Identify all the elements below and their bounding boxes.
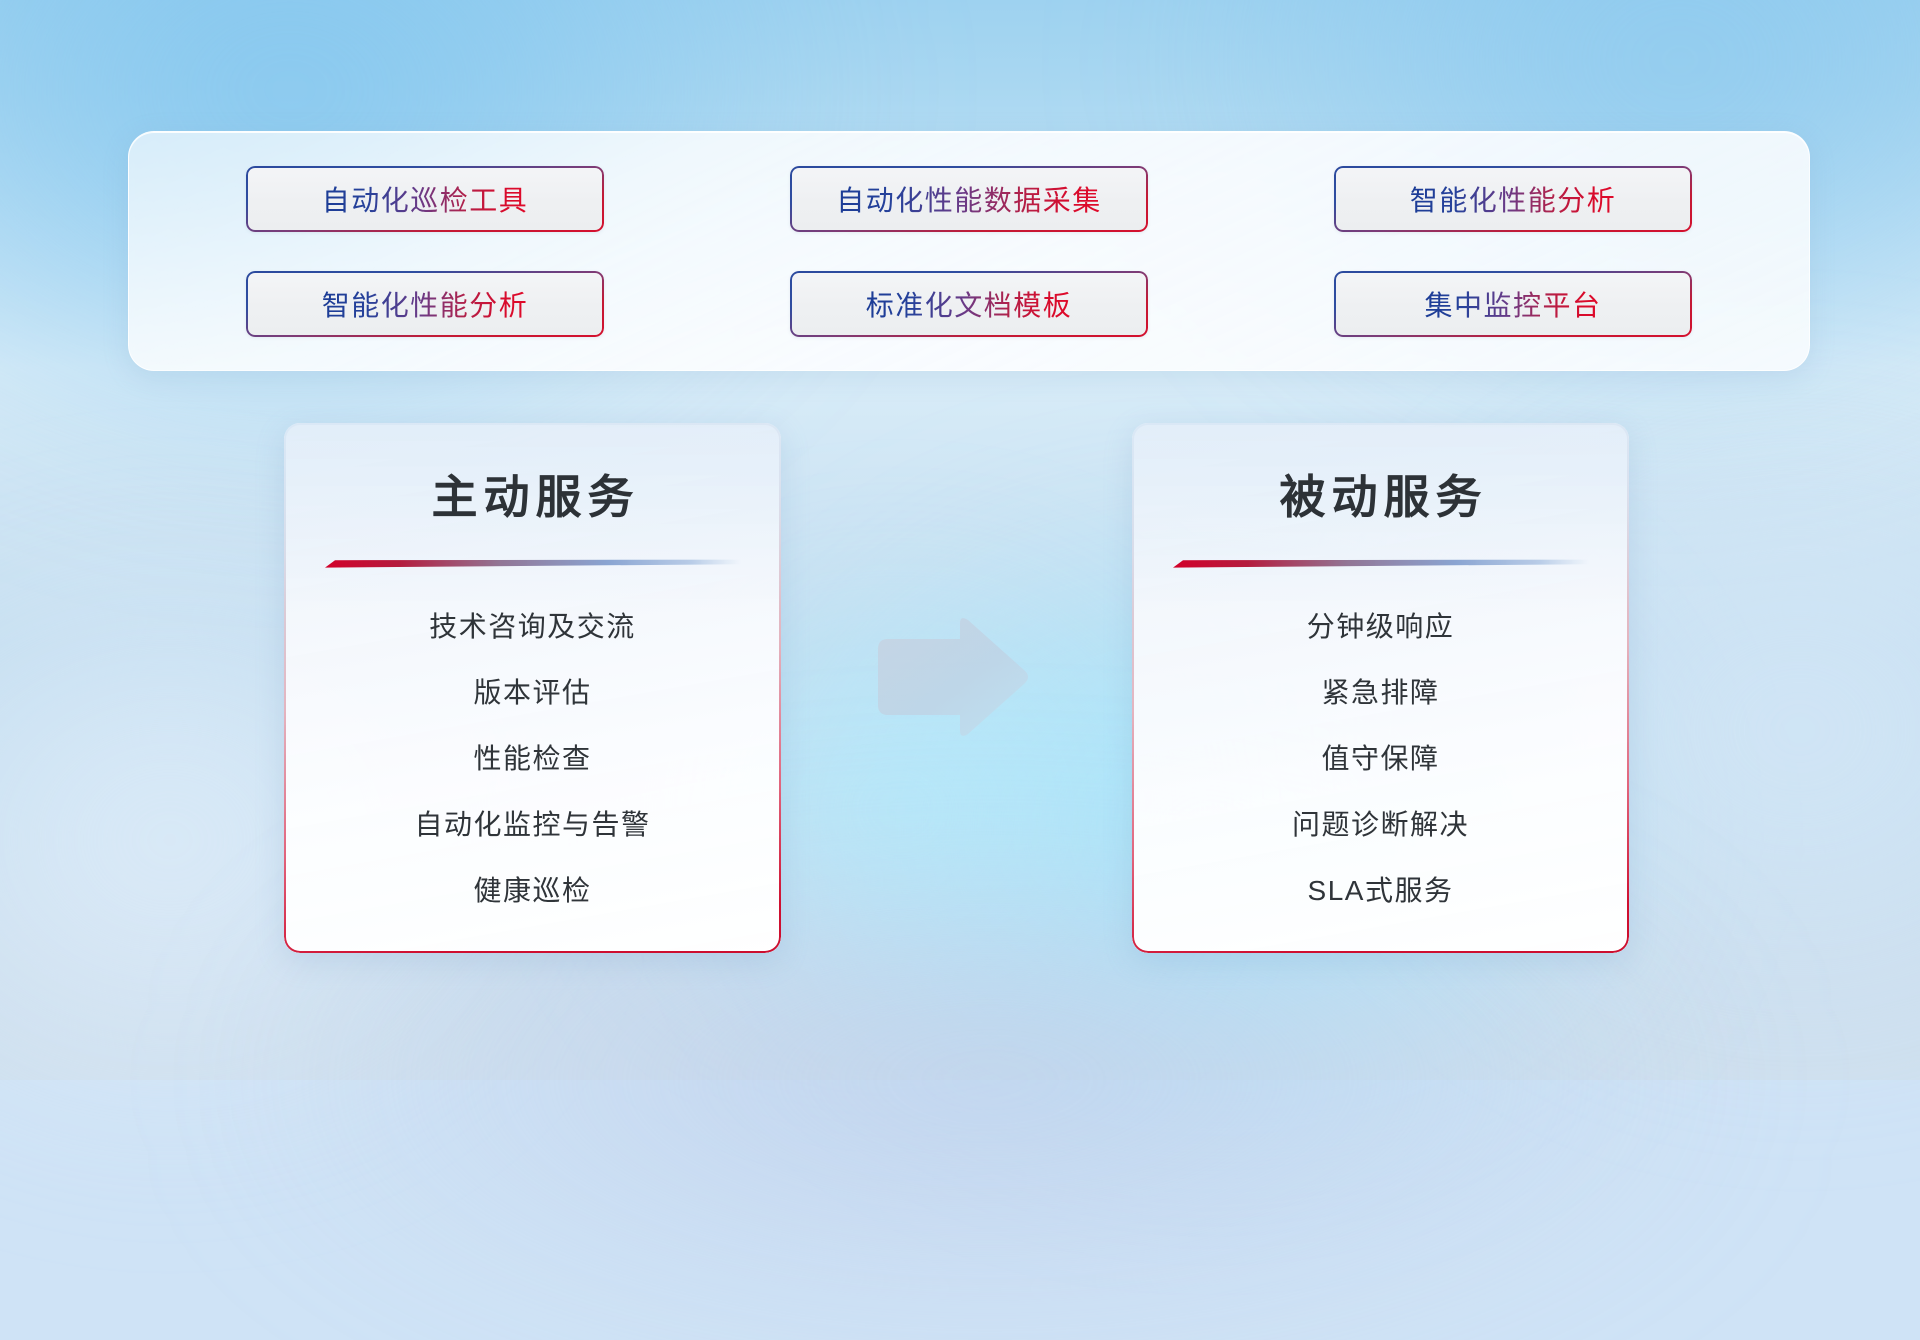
capability-chip-label: 集中监控平台: [1424, 284, 1601, 324]
capability-chip-2[interactable]: 自动化性能数据采集: [790, 166, 1148, 232]
capability-chip-3[interactable]: 智能化性能分析: [1334, 166, 1692, 232]
reactive-card-divider: [1173, 555, 1589, 564]
capability-chip-label: 自动化性能数据采集: [836, 179, 1102, 219]
reactive-service-list: 分钟级响应 紧急排障 值守保障 问题诊断解决 SLA式服务: [1132, 594, 1629, 924]
reactive-service-card: 被动服务 分钟级响应 紧急排障 值守保障 问题诊断解决 SLA式服务: [1132, 423, 1629, 953]
proactive-card-title: 主动服务: [284, 461, 781, 527]
capability-chip-label: 标准化文档模板: [866, 284, 1073, 324]
capability-chip-label: 智能化性能分析: [322, 284, 529, 324]
capability-chip-4[interactable]: 智能化性能分析: [246, 271, 604, 337]
proactive-service-list: 技术咨询及交流 版本评估 性能检查 自动化监控与告警 健康巡检: [284, 594, 781, 924]
capability-chip-6[interactable]: 集中监控平台: [1334, 271, 1692, 337]
list-item[interactable]: 版本评估: [284, 660, 781, 726]
list-item[interactable]: 分钟级响应: [1132, 594, 1629, 660]
capability-panel: 自动化巡检工具 自动化性能数据采集 智能化性能分析 智能化性能分析 标准化文档模…: [128, 131, 1810, 371]
capability-chip-label: 智能化性能分析: [1410, 179, 1617, 219]
list-item[interactable]: 健康巡检: [284, 858, 781, 924]
list-item[interactable]: 问题诊断解决: [1132, 792, 1629, 858]
divider-gradient-bar: [1173, 559, 1589, 568]
list-item[interactable]: 技术咨询及交流: [284, 594, 781, 660]
capability-chip-1[interactable]: 自动化巡检工具: [246, 166, 604, 232]
list-item[interactable]: 值守保障: [1132, 726, 1629, 792]
capability-chip-5[interactable]: 标准化文档模板: [790, 271, 1148, 337]
list-item[interactable]: SLA式服务: [1132, 858, 1629, 924]
proactive-card-divider: [325, 555, 741, 564]
list-item[interactable]: 自动化监控与告警: [284, 792, 781, 858]
reactive-card-title: 被动服务: [1132, 461, 1629, 527]
list-item[interactable]: 紧急排障: [1132, 660, 1629, 726]
capability-chip-label: 自动化巡检工具: [322, 179, 529, 219]
divider-gradient-bar: [325, 559, 741, 568]
list-item[interactable]: 性能检查: [284, 726, 781, 792]
proactive-service-card: 主动服务 技术咨询及交流 版本评估 性能检查 自动化监控与告警 健康巡检: [284, 423, 781, 953]
